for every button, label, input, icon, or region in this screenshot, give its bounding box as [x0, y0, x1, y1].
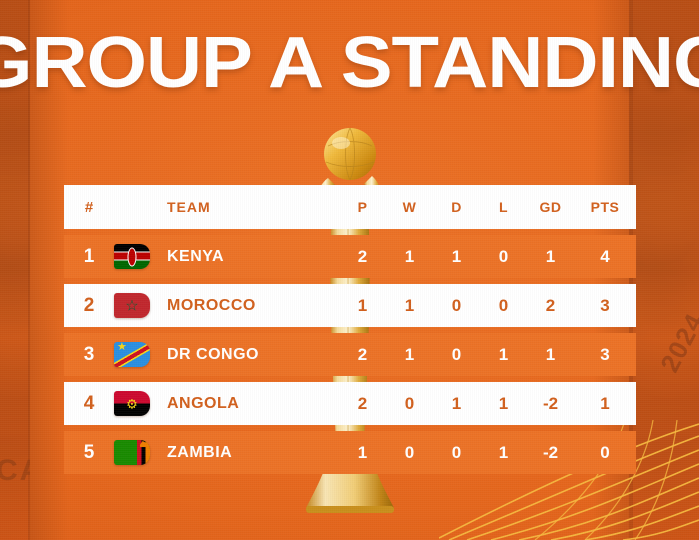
row-gd: 1	[527, 345, 574, 365]
row-d: 1	[433, 394, 480, 414]
row-l: 1	[480, 345, 527, 365]
row-team: DR CONGO	[160, 346, 339, 364]
row-w: 1	[386, 345, 433, 365]
row-flag-cell	[104, 293, 160, 318]
drcongo-flag	[114, 342, 150, 367]
row-w: 0	[386, 394, 433, 414]
row-pts: 3	[574, 296, 636, 316]
row-flag-cell	[104, 244, 160, 269]
table-row: 1 KENYA 2 1 1 0 1 4	[64, 235, 636, 278]
header-rank: #	[64, 199, 104, 216]
row-p: 2	[339, 345, 386, 365]
row-team: ZAMBIA	[160, 444, 339, 462]
row-team: ANGOLA	[160, 395, 339, 413]
row-rank: 4	[64, 393, 104, 415]
row-pts: 0	[574, 443, 636, 463]
row-w: 1	[386, 247, 433, 267]
row-l: 1	[480, 394, 527, 414]
edge-letters: CA	[0, 454, 30, 488]
row-rank: 5	[64, 442, 104, 464]
table-row: 4 ANGOLA 2 0 1 1 -2 1	[64, 382, 636, 425]
row-d: 0	[433, 443, 480, 463]
table-header-row: # TEAM P W D L GD PTS	[64, 185, 636, 229]
row-rank: 1	[64, 246, 104, 268]
row-p: 2	[339, 394, 386, 414]
row-rank: 3	[64, 344, 104, 366]
page-title: GROUP A STANDING	[0, 26, 699, 100]
row-gd: -2	[527, 394, 574, 414]
row-pts: 1	[574, 394, 636, 414]
row-d: 1	[433, 247, 480, 267]
row-l: 0	[480, 247, 527, 267]
row-pts: 3	[574, 345, 636, 365]
row-w: 1	[386, 296, 433, 316]
header-p: P	[339, 199, 386, 215]
header-gd: GD	[527, 199, 574, 215]
header-team: TEAM	[160, 199, 339, 215]
row-gd: 2	[527, 296, 574, 316]
row-w: 0	[386, 443, 433, 463]
row-gd: 1	[527, 247, 574, 267]
header-pts: PTS	[574, 199, 636, 215]
row-l: 1	[480, 443, 527, 463]
row-team: MOROCCO	[160, 297, 339, 315]
table-row: 5 ZAMBIA 1 0 0 1 -2 0	[64, 431, 636, 474]
kenya-flag	[114, 244, 150, 269]
row-p: 2	[339, 247, 386, 267]
row-pts: 4	[574, 247, 636, 267]
zambia-flag	[114, 440, 150, 465]
row-gd: -2	[527, 443, 574, 463]
header-w: W	[386, 199, 433, 215]
row-p: 1	[339, 443, 386, 463]
row-team: KENYA	[160, 248, 339, 266]
standings-graphic: CA 2024	[0, 0, 699, 540]
row-flag-cell	[104, 342, 160, 367]
row-d: 0	[433, 345, 480, 365]
row-rank: 2	[64, 295, 104, 317]
angola-flag	[114, 391, 150, 416]
header-d: D	[433, 199, 480, 215]
row-flag-cell	[104, 440, 160, 465]
table-row: 2 MOROCCO 1 1 0 0 2 3	[64, 284, 636, 327]
row-flag-cell	[104, 391, 160, 416]
morocco-flag	[114, 293, 150, 318]
standings-table: # TEAM P W D L GD PTS 1 KENYA 2 1 1 0 1 …	[64, 185, 636, 474]
row-l: 0	[480, 296, 527, 316]
table-row: 3 DR CONGO 2 1 0 1 1 3	[64, 333, 636, 376]
row-p: 1	[339, 296, 386, 316]
header-l: L	[480, 199, 527, 215]
row-d: 0	[433, 296, 480, 316]
